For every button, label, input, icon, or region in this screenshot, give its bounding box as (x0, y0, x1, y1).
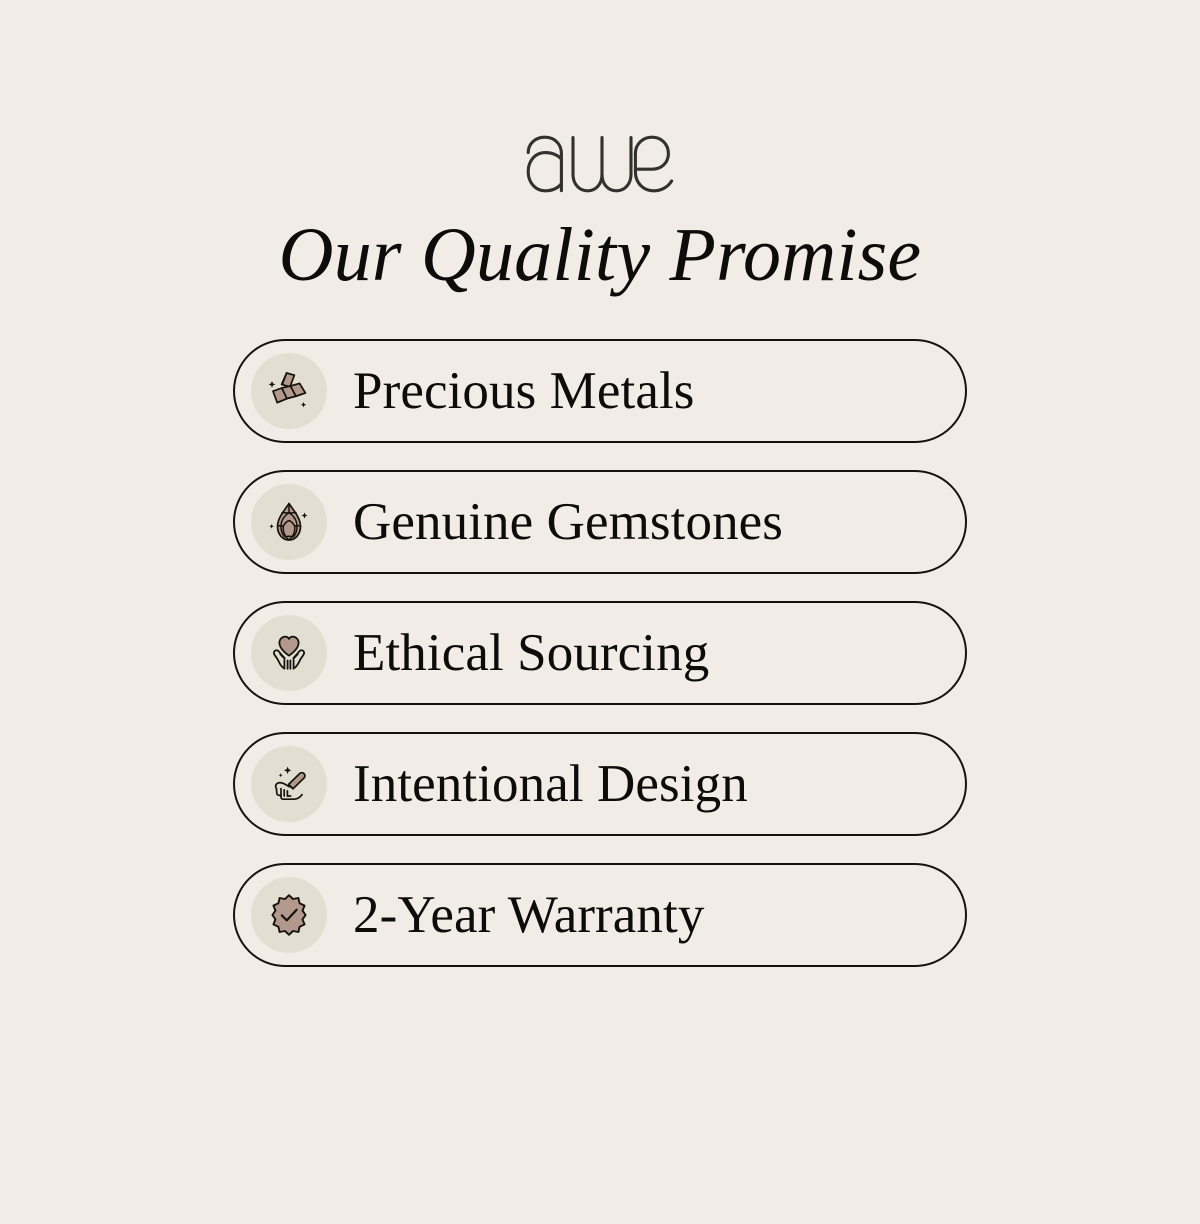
promise-item-precious-metals[interactable]: Precious Metals (233, 339, 967, 443)
promise-list: Precious Metals (233, 339, 967, 967)
page-title: Our Quality Promise (279, 217, 922, 293)
promise-label: Intentional Design (353, 758, 748, 811)
promise-label: Ethical Sourcing (353, 627, 709, 680)
promise-item-warranty[interactable]: 2-Year Warranty (233, 863, 967, 967)
quality-promise-page: Our Quality Promise (0, 0, 1200, 1224)
verified-badge-icon (251, 877, 327, 953)
promise-label: Precious Metals (353, 365, 695, 418)
promise-item-intentional-design[interactable]: Intentional Design (233, 732, 967, 836)
promise-label: 2-Year Warranty (353, 889, 704, 942)
hand-pen-icon (251, 746, 327, 822)
gold-bars-icon (251, 353, 327, 429)
gemstone-icon (251, 484, 327, 560)
promise-item-genuine-gemstones[interactable]: Genuine Gemstones (233, 470, 967, 574)
awe-wordmark-logo (525, 133, 675, 195)
hands-heart-icon (251, 615, 327, 691)
promise-label: Genuine Gemstones (353, 496, 783, 549)
promise-item-ethical-sourcing[interactable]: Ethical Sourcing (233, 601, 967, 705)
